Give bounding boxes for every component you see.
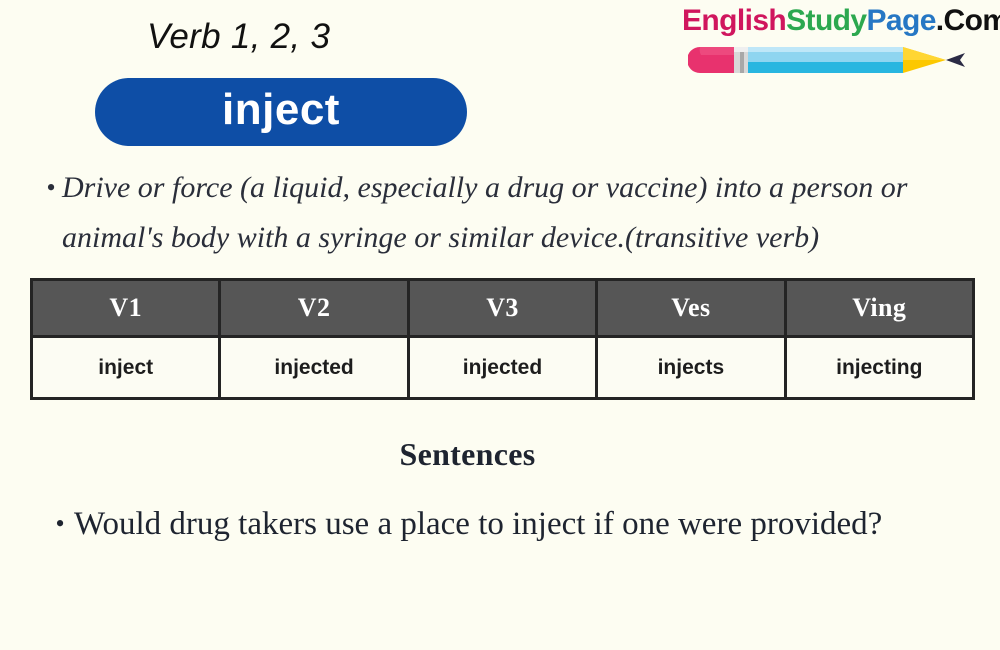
logo-part-english: English [682,4,786,37]
table-header-v3: V3 [408,280,596,337]
table-header-ves: Ves [597,280,785,337]
page-title: Verb 1, 2, 3 [147,17,330,57]
definition-text: Drive or force (a liquid, especially a d… [62,163,980,263]
definition-item: • Drive or force (a liquid, especially a… [40,163,980,263]
table-cell-ves: injects [597,337,785,399]
site-logo: EnglishStudyPage.Com [682,6,984,77]
logo-part-page: Page [866,4,935,37]
word-badge-label: inject [222,88,340,136]
table-row: inject injected injected injects injecti… [32,337,974,399]
table-header-v1: V1 [32,280,220,337]
site-logo-text: EnglishStudyPage.Com [682,6,984,36]
word-badge: inject [95,78,467,146]
logo-part-com: .Com [936,4,1000,37]
sentence-list: • Would drug takers use a place to injec… [46,492,946,556]
sentence-text: Would drug takers use a place to inject … [74,492,946,556]
table-header-ving: Ving [785,280,973,337]
table-header-v2: V2 [220,280,408,337]
table-cell-v2: injected [220,337,408,399]
table-cell-ving: injecting [785,337,973,399]
sentence-item: • Would drug takers use a place to injec… [46,492,946,556]
pencil-icon [682,43,984,77]
sentences-heading: Sentences [0,436,935,473]
definition-list: • Drive or force (a liquid, especially a… [40,163,980,263]
bullet-icon: • [40,163,62,213]
table-cell-v3: injected [408,337,596,399]
bullet-icon: • [46,492,74,556]
logo-part-study: Study [786,4,866,37]
table-header-row: V1 V2 V3 Ves Ving [32,280,974,337]
table-cell-v1: inject [32,337,220,399]
verb-forms-table: V1 V2 V3 Ves Ving inject injected inject… [30,278,975,400]
